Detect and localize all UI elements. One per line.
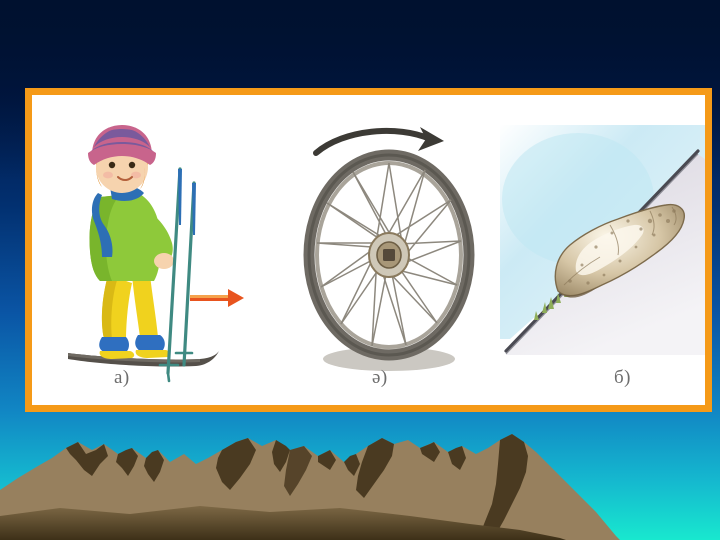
figure-skier: [50, 125, 250, 385]
rotation-arrow-icon: [316, 127, 444, 153]
ski-poles: [160, 169, 196, 381]
illustration-panel: а): [25, 88, 712, 412]
slide-canvas: а): [0, 0, 720, 540]
figure-rock-on-slope: [500, 125, 705, 385]
figure-label-ae: ә): [372, 367, 388, 389]
figure-label-a: а): [114, 367, 130, 389]
skier-pants: [102, 275, 158, 341]
figure-label-b: б): [614, 367, 631, 389]
arrow-right-icon: [190, 289, 244, 307]
skier-boots: [99, 335, 170, 359]
mountain-silhouette: [0, 420, 720, 540]
figure-wheel: [294, 115, 484, 385]
wheel-hub: [369, 233, 409, 277]
